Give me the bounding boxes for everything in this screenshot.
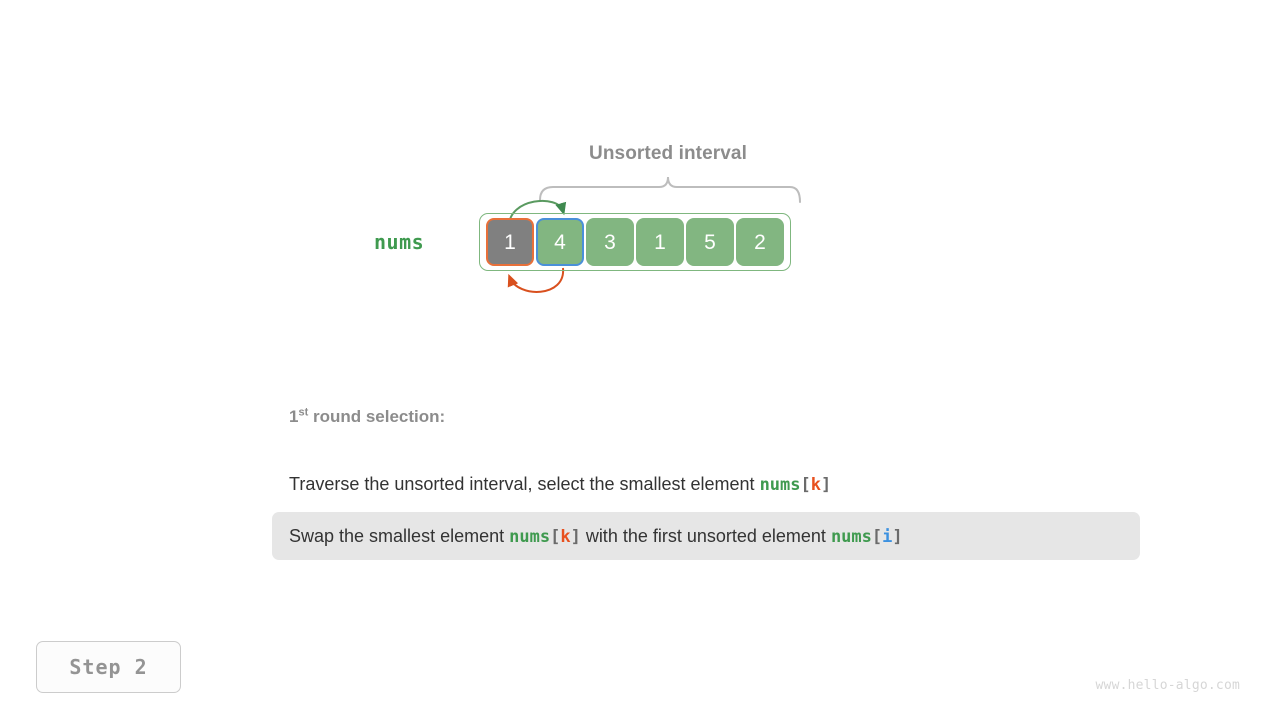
swap-prefix: Swap the smallest element xyxy=(289,526,509,546)
swap-bracket-close-1: ] xyxy=(571,527,581,547)
array-variable-label: nums xyxy=(374,230,424,254)
array-cell-0[interactable]: 1 xyxy=(486,218,534,266)
traverse-bracket-open: [ xyxy=(801,475,811,495)
array-cell-4[interactable]: 5 xyxy=(686,218,734,266)
swap-code-nums-2: nums xyxy=(831,527,872,547)
watermark: www.hello-algo.com xyxy=(1096,678,1240,693)
swap-code-nums-1: nums xyxy=(509,527,550,547)
array-cell-1[interactable]: 4 xyxy=(536,218,584,266)
traverse-prefix: Traverse the unsorted interval, select t… xyxy=(289,474,760,494)
round-ordinal-suffix: st xyxy=(298,406,308,418)
round-heading: 1st round selection: xyxy=(289,408,1189,425)
nums-array: 1 4 3 1 5 2 xyxy=(479,213,791,271)
swap-bracket-open-2: [ xyxy=(872,527,882,547)
unsorted-interval-title: Unsorted interval xyxy=(0,143,1280,165)
swap-bracket-close-2: ] xyxy=(892,527,902,547)
swap-index-k: k xyxy=(560,527,570,547)
step-badge[interactable]: Step 2 xyxy=(36,641,181,693)
traverse-bracket-close: ] xyxy=(821,475,831,495)
swap-step-highlight-row: Swap the smallest element nums[k] with t… xyxy=(272,512,1140,560)
explanation-block: 1st round selection: Traverse the unsort… xyxy=(289,408,1189,425)
array-cell-3[interactable]: 1 xyxy=(636,218,684,266)
array-cell-2[interactable]: 3 xyxy=(586,218,634,266)
swap-bracket-open-1: [ xyxy=(550,527,560,547)
array-diagram: Unsorted interval nums 1 4 3 1 5 2 xyxy=(0,0,1280,340)
swap-index-i: i xyxy=(882,527,892,547)
orange-swap-arrow xyxy=(510,268,563,292)
swap-step-line: Swap the smallest element nums[k] with t… xyxy=(289,527,903,546)
traverse-step-line: Traverse the unsorted interval, select t… xyxy=(289,475,831,494)
round-heading-rest: round selection: xyxy=(308,407,445,426)
traverse-code-nums: nums xyxy=(760,475,801,495)
swap-middle: with the first unsorted element xyxy=(581,526,831,546)
traverse-index-k: k xyxy=(811,475,821,495)
array-cell-5[interactable]: 2 xyxy=(736,218,784,266)
